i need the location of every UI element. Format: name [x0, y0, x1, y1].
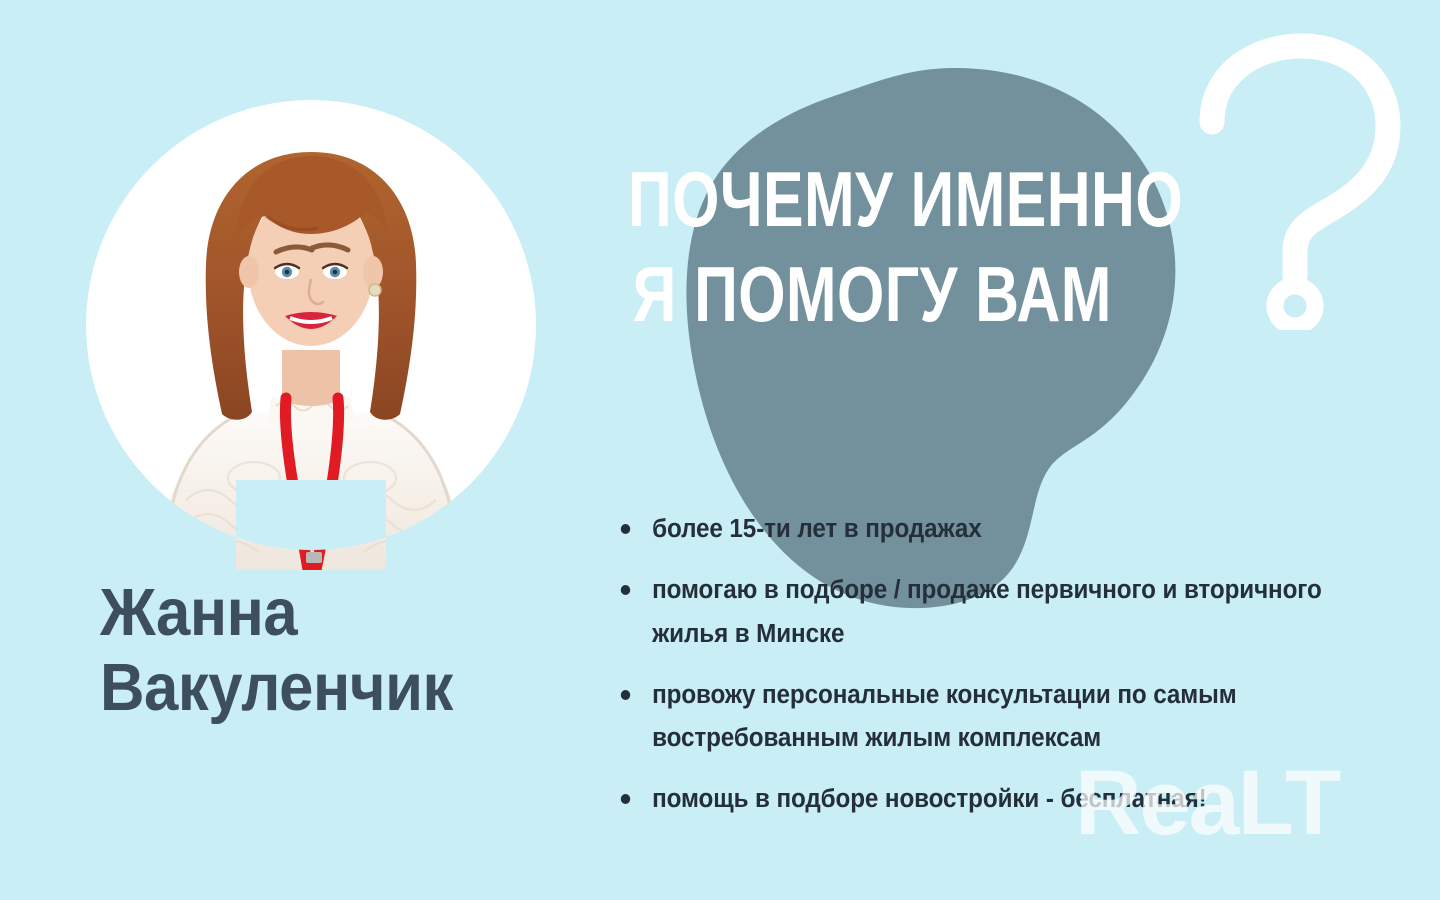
list-item-label: провожу персональные консультации по сам…: [652, 681, 1236, 753]
list-item-label: более 15-ти лет в продажах: [652, 515, 982, 543]
bullet-dot-icon: [621, 794, 631, 804]
list-item: более 15-ти лет в продажах: [616, 508, 1395, 552]
agent-name: Жанна Вакуленчик: [100, 575, 578, 725]
svg-text:ЭТАЖИ: ЭТАЖИ: [312, 508, 324, 548]
headline-line-2: Я ПОМОГУ ВАМ: [628, 247, 1183, 342]
agent-portrait: ЭТАЖИ: [86, 100, 536, 550]
headline: ПОЧЕМУ ИМЕННО Я ПОМОГУ ВАМ: [628, 152, 1183, 342]
realt-watermark: ReaLT: [1075, 757, 1339, 849]
list-item: помогаю в подборе / продаже первичного и…: [616, 569, 1395, 657]
headline-line-1: ПОЧЕМУ ИМЕННО: [628, 152, 1183, 247]
bullet-dot-icon: [621, 524, 631, 534]
list-item-label: помогаю в подборе / продаже первичного и…: [652, 576, 1322, 648]
question-mark-icon: [1185, 30, 1415, 330]
agent-photo: ЭТАЖИ: [86, 100, 536, 570]
list-item: провожу персональные консультации по сам…: [616, 674, 1395, 762]
bullet-dot-icon: [621, 690, 631, 700]
bullet-dot-icon: [621, 585, 631, 595]
promo-banner: ЭТАЖИ Жанна Вакуленчик ПОЧЕМУ ИМЕННО Я П…: [0, 0, 1440, 900]
